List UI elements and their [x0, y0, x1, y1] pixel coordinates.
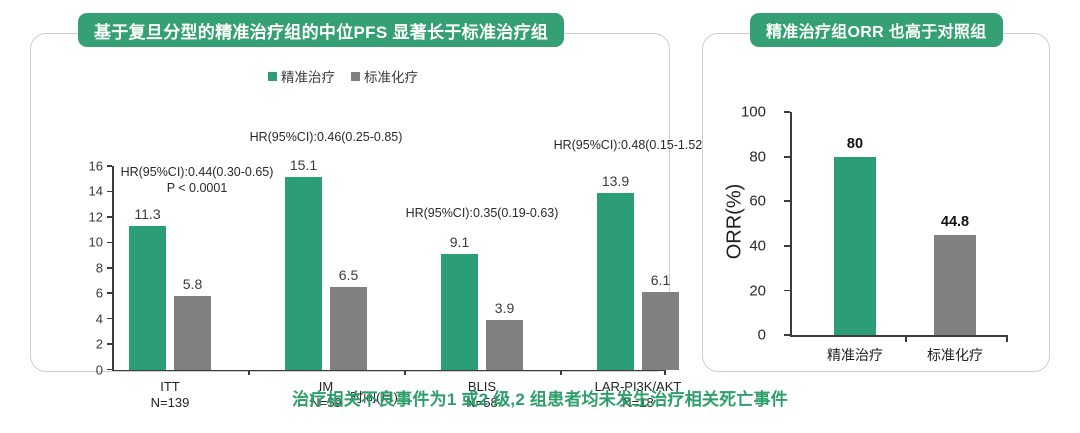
orr-y-axis-title: ORR(%)	[724, 121, 747, 321]
slide-canvas: 基于复旦分型的精准治疗组的中位PFS 显著长于标准治疗组 精准治疗 标准化疗 0…	[0, 0, 1080, 433]
orr-x-group-label: 标准化疗	[927, 345, 983, 365]
orr-bar-precision	[834, 157, 876, 336]
footer-caption: 治疗相关不良事件为1 或2 级,2 组患者均未发生治疗相关死亡事件	[0, 385, 1080, 410]
x-tick-mark	[1006, 336, 1008, 342]
orr-bar-value-label: 80	[847, 136, 863, 152]
orr-panel-title: 精准治疗组ORR 也高于对照组	[750, 13, 1003, 47]
orr-bar-standard	[934, 235, 976, 335]
orr-bars-layer: 80精准治疗44.8标准化疗	[0, 0, 1080, 433]
orr-bar-value-label: 44.8	[941, 214, 969, 230]
x-tick-mark	[905, 336, 907, 342]
orr-x-group-label: 精准治疗	[827, 345, 883, 365]
pfs-panel-title: 基于复旦分型的精准治疗组的中位PFS 显著长于标准治疗组	[78, 13, 564, 47]
